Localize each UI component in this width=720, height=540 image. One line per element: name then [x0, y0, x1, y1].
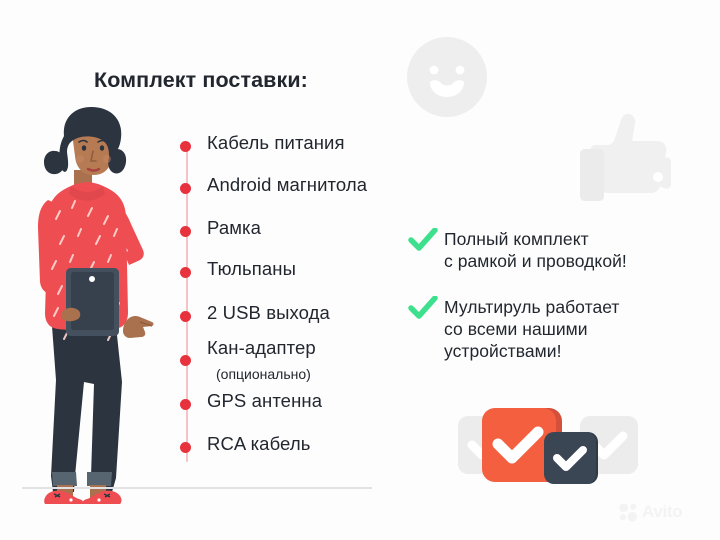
benefit-item: Полный комплект с рамкой и проводкой! — [408, 228, 627, 272]
green-check-icon — [408, 296, 438, 322]
benefit-item: Мультируль работает со всеми нашими устр… — [408, 296, 620, 362]
bullet-dot-icon — [180, 141, 191, 152]
avito-logo-icon — [618, 502, 639, 523]
list-item-label: Android магнитола — [207, 174, 367, 196]
benefit-label: Полный комплект с рамкой и проводкой! — [444, 228, 627, 272]
list-item-label: 2 USB выхода — [207, 302, 330, 324]
avito-watermark: Avito — [618, 500, 704, 524]
bullet-dot-icon — [180, 311, 191, 322]
bullet-dot-icon — [180, 267, 191, 278]
green-check-icon — [408, 228, 438, 254]
promo-card: Комплект поставки: — [0, 0, 720, 540]
bullet-dot-icon — [180, 442, 191, 453]
benefit-label: Мультируль работает со всеми нашими устр… — [444, 296, 620, 362]
checkbox-cards-icon — [458, 404, 638, 496]
list-item-label: Рамка — [207, 217, 261, 239]
list-item-label: Тюльпаны — [207, 258, 296, 280]
ground-line — [22, 487, 372, 489]
list-item-sublabel: (опционально) — [216, 366, 311, 382]
bullet-dot-icon — [180, 183, 191, 194]
bullet-dot-icon — [180, 399, 191, 410]
avito-watermark-text: Avito — [642, 502, 682, 522]
list-item-label: Кан-адаптер — [207, 337, 316, 359]
thumbs-up-icon — [572, 108, 678, 212]
list-item-label: GPS антенна — [207, 390, 322, 412]
list-item-label: Кабель питания — [207, 132, 345, 154]
person-pointing-illustration — [16, 104, 186, 504]
smiley-face-icon — [404, 34, 490, 120]
page-title: Комплект поставки: — [94, 68, 308, 93]
bullet-dot-icon — [180, 226, 191, 237]
bullet-dot-icon — [180, 355, 191, 366]
list-item-label: RCA кабель — [207, 433, 310, 455]
